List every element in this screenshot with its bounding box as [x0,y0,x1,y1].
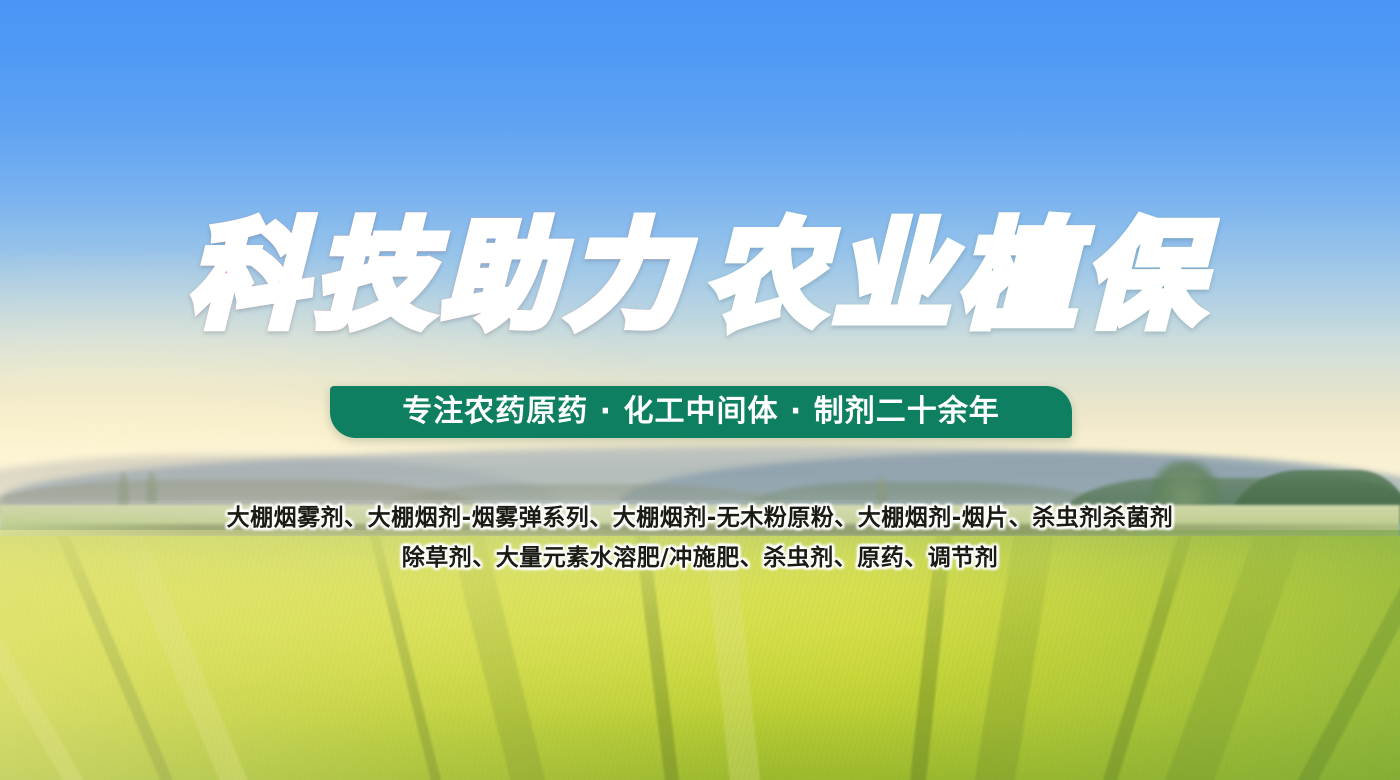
headline-segment-green: 农业植保 [707,206,1211,346]
hero-banner: 科技助力农业植保 专注农药原药 · 化工中间体 · 制剂二十余年 大棚烟雾剂、大… [0,0,1400,780]
subtitle-banner: 专注农药原药 · 化工中间体 · 制剂二十余年 [330,386,1072,438]
product-list: 大棚烟雾剂、大棚烟剂-烟雾弹系列、大棚烟剂-无木粉原粉、大棚烟剂-烟片、杀虫剂杀… [0,498,1400,578]
product-line-1: 大棚烟雾剂、大棚烟剂-烟雾弹系列、大棚烟剂-无木粉原粉、大棚烟剂-烟片、杀虫剂杀… [0,498,1400,538]
subtitle-text: 专注农药原药 · 化工中间体 · 制剂二十余年 [402,397,1000,427]
banner-headline: 科技助力农业植保 [0,206,1400,346]
product-line-2: 除草剂、大量元素水溶肥/冲施肥、杀虫剂、原药、调节剂 [0,538,1400,578]
headline-segment-red: 科技助力 [189,206,693,346]
